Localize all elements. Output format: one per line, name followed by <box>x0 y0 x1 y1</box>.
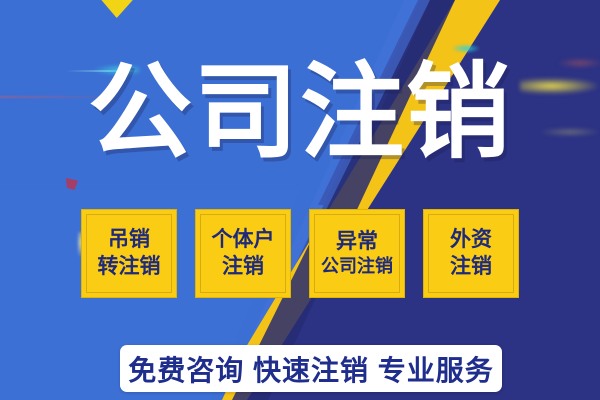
category-label-line-1: 异常 <box>336 229 378 255</box>
promo-poster: 公司注销 吊销 转注销 个体户 注销 异常 公司注销 外资 注销 <box>0 0 600 400</box>
category-label-line-2: 公司注销 <box>321 256 393 278</box>
category-label-line-2: 转注销 <box>98 254 161 280</box>
category-label-line-2: 注销 <box>222 254 264 280</box>
bottom-banner-text: 免费咨询 快速注销 专业服务 <box>128 349 494 389</box>
bottom-banner[interactable]: 免费咨询 快速注销 专业服务 <box>120 345 502 392</box>
category-label-line-1: 外资 <box>450 227 492 253</box>
category-label-line-2: 注销 <box>450 254 492 280</box>
category-box-getihu-zhuxiao[interactable]: 个体户 注销 <box>195 209 291 298</box>
category-box-inner: 个体户 注销 <box>200 214 286 293</box>
category-box-inner: 吊销 转注销 <box>86 214 172 293</box>
category-box-diaoxiao-zhuanzhuxiao[interactable]: 吊销 转注销 <box>81 209 177 298</box>
category-box-yichang-gongsi-zhuxiao[interactable]: 异常 公司注销 <box>309 209 405 298</box>
page-title: 公司注销 <box>0 58 600 168</box>
category-box-inner: 外资 注销 <box>428 214 514 293</box>
category-label-line-1: 吊销 <box>108 227 150 253</box>
category-box-row: 吊销 转注销 个体户 注销 异常 公司注销 外资 注销 <box>0 209 600 298</box>
category-box-inner: 异常 公司注销 <box>314 214 400 293</box>
category-label-line-1: 个体户 <box>212 227 275 253</box>
category-box-waizi-zhuxiao[interactable]: 外资 注销 <box>423 209 519 298</box>
